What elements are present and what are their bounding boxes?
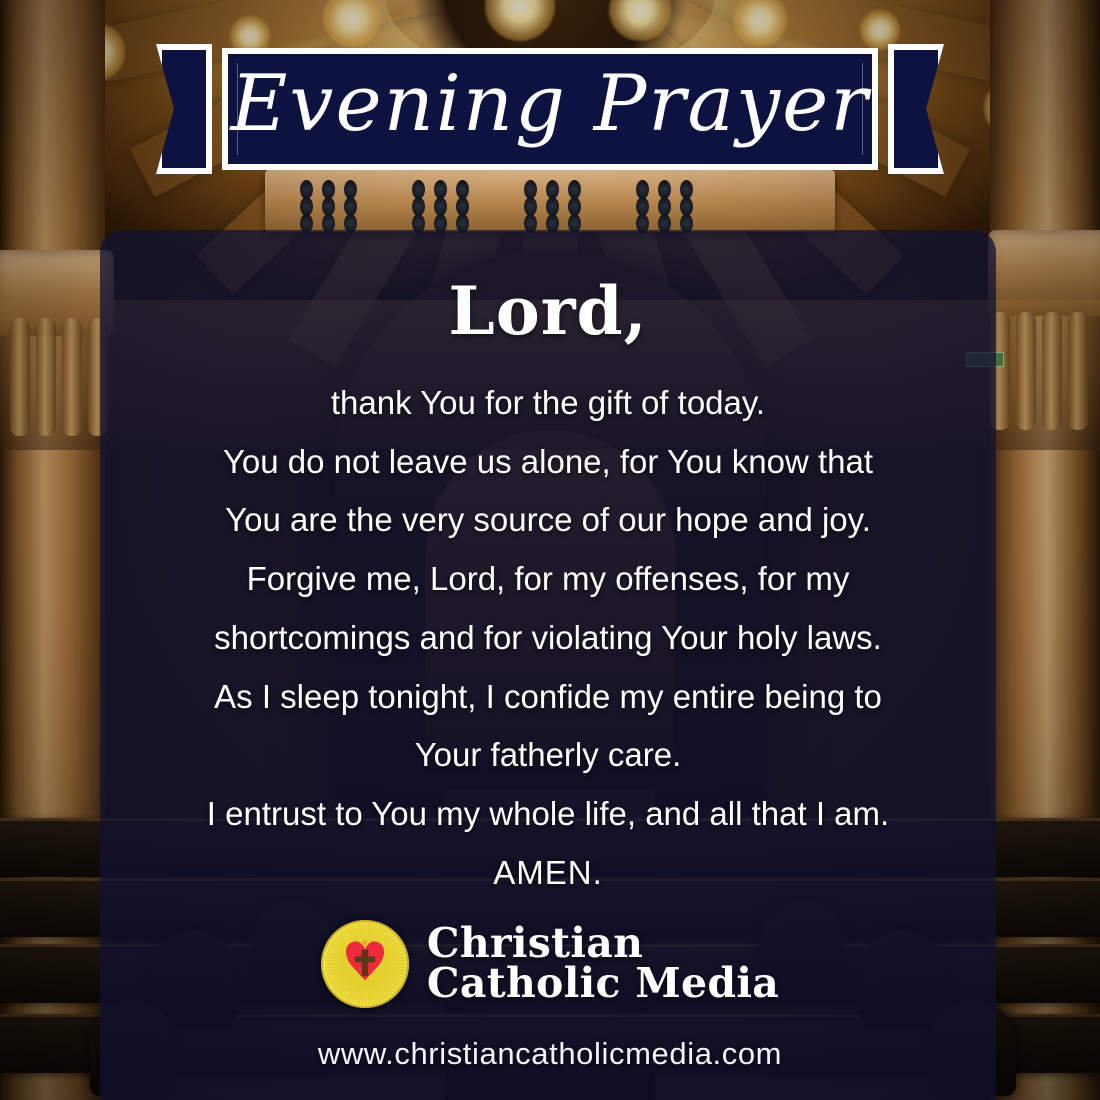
prayer-line: You are the very source of our hope and … — [104, 491, 992, 550]
sacred-heart-cross-emblem-icon — [321, 920, 409, 1008]
prayer-line: As I sleep tonight, I confide my entire … — [104, 668, 992, 727]
header-ribbon: Evening Prayer — [0, 0, 1100, 220]
ribbon-tail-left-icon — [156, 44, 212, 174]
ribbon-tail-right-icon — [888, 44, 944, 174]
prayer-heading: Lord, — [448, 278, 647, 344]
brand-name-line-2: Catholic Media — [427, 964, 779, 1004]
prayer-body: thank You for the gift of today.You do n… — [100, 374, 996, 903]
heart-cross-svg — [338, 941, 392, 991]
prayer-line: Your fatherly care. — [104, 726, 992, 785]
banner-title: Evening Prayer — [228, 54, 872, 164]
website-url[interactable]: www.christiancatholicmedia.com — [0, 1036, 1100, 1072]
prayer-line: thank You for the gift of today. — [104, 374, 992, 433]
prayer-line: shortcomings and for violating Your holy… — [104, 609, 992, 668]
heart-shape — [338, 941, 392, 991]
ribbon-plate: Evening Prayer — [222, 48, 878, 170]
brand-logo[interactable]: Christian Catholic Media — [0, 920, 1100, 1008]
prayer-line: AMEN. — [104, 844, 992, 903]
prayer-poster: Evening Prayer Lord, thank You for the g… — [0, 0, 1100, 1100]
prayer-line: I entrust to You my whole life, and all … — [104, 785, 992, 844]
brand-wordmark: Christian Catholic Media — [427, 924, 779, 1004]
prayer-line: You do not leave us alone, for You know … — [104, 433, 992, 492]
prayer-line: Forgive me, Lord, for my offenses, for m… — [104, 550, 992, 609]
